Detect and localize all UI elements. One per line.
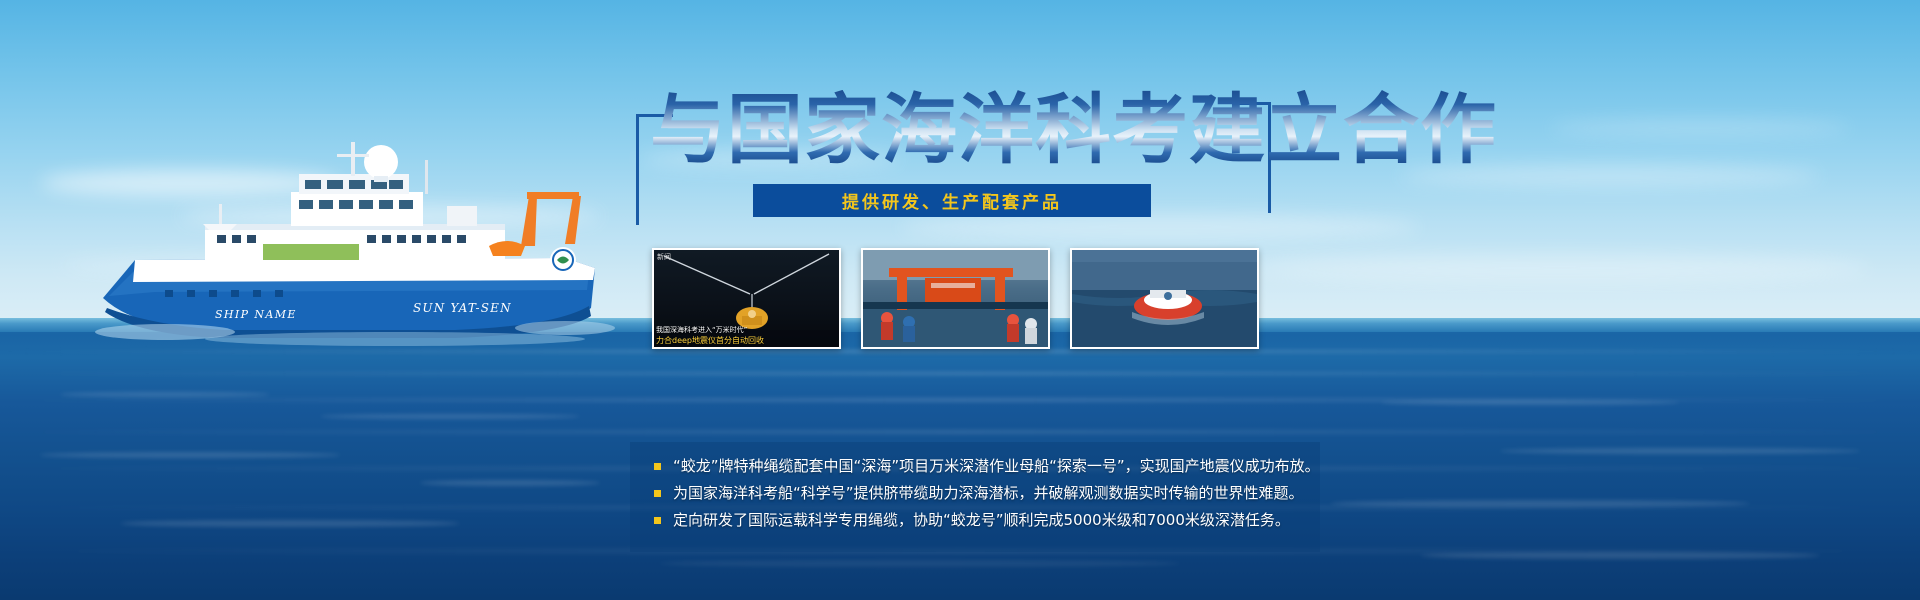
bullet-text: 为国家海洋科考船“科学号”提供脐带缆助力深海潜标，并破解观测数据实时传输的世界性… [673,483,1304,504]
bullet-square-icon [654,517,661,524]
subtitle-text: 提供研发、生产配套产品 [842,188,1062,213]
bullet-text: “蛟龙”牌特种绳缆配套中国“深海”项目万米深潜作业母船“探索一号”，实现国产地震… [673,456,1320,477]
page-title: 与国家海洋科考建立合作 [650,90,1497,170]
feature-bullet-panel: “蛟龙”牌特种绳缆配套中国“深海”项目万米深潜作业母船“探索一号”，实现国产地震… [630,442,1320,552]
thumbnail-strip: 新闻 我国深海科考进入“万米时代” 力合deep地震仪首分自动回收 [652,248,1259,349]
subtitle-bar: 提供研发、生产配套产品 [753,184,1151,217]
list-item: 为国家海洋科考船“科学号”提供脐带缆助力深海潜标，并破解观测数据实时传输的世界性… [654,483,1302,504]
research-vessel-illustration: SHIP NAME SUN YAT-SEN [95,140,615,370]
cloud [900,215,1420,239]
thumbnail-deck-crane-orange-equipment[interactable] [861,248,1050,349]
svg-text:SHIP NAME: SHIP NAME [215,308,297,321]
bullet-text: 定向研发了国际运载科学专用绳缆，协助“蛟龙号”顺利完成5000米级和7000米级… [673,510,1290,531]
cloud [1250,255,1870,281]
list-item: “蛟龙”牌特种绳缆配套中国“深海”项目万米深潜作业母船“探索一号”，实现国产地震… [654,456,1302,477]
svg-text:SUN YAT-SEN: SUN YAT-SEN [413,301,512,315]
bullet-square-icon [654,463,661,470]
thumbnail-corner-label: 新闻 [657,252,671,262]
list-item: 定向研发了国际运载科学专用绳缆，协助“蛟龙号”顺利完成5000米级和7000米级… [654,510,1302,531]
marketing-banner: SHIP NAME SUN YAT-SEN 与国家海洋科考建立合作 与国家海洋科… [0,0,1920,600]
thumbnail-submersible-launch-at-sea[interactable] [1070,248,1259,349]
thumbnail-deep-sea-seismometer-recovery[interactable]: 新闻 我国深海科考进入“万米时代” 力合deep地震仪首分自动回收 [652,248,841,349]
cloud [1550,120,1850,136]
bullet-square-icon [654,490,661,497]
thumbnail-caption: 力合deep地震仪首分自动回收 [654,335,839,347]
